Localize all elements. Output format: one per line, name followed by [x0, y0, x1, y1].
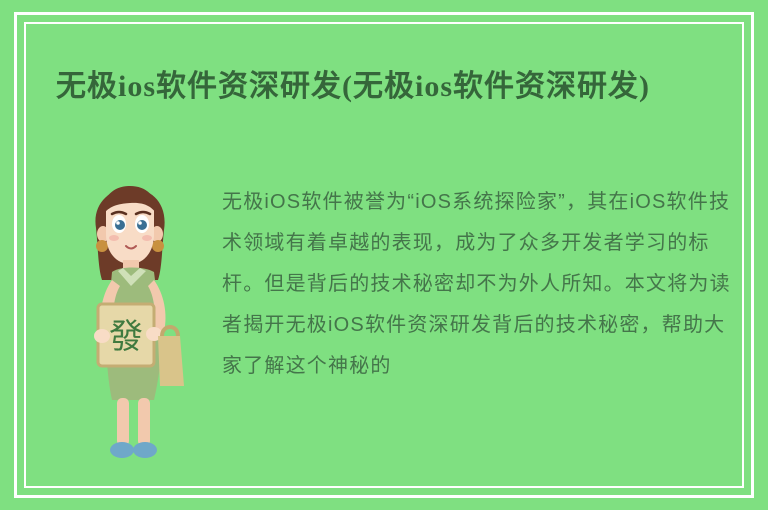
article-body-text: 无极iOS软件被誉为“iOS系统探险家”，其在iOS软件技术领域有着卓越的表现，… — [222, 182, 738, 387]
svg-text:發: 發 — [109, 318, 143, 356]
girl-holding-sign-illustration: 發 — [62, 176, 212, 476]
page-title: 无极ios软件资深研发(无极ios软件资深研发) — [56, 64, 716, 110]
page-root: 无极ios软件资深研发(无极ios软件资深研发) — [0, 0, 768, 510]
